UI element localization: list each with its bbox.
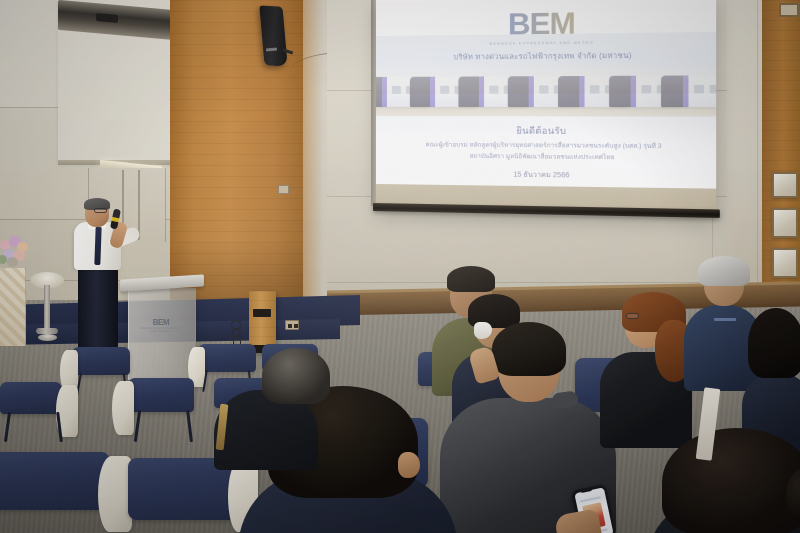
- metro-train: [661, 75, 716, 107]
- wall-outlet: [278, 185, 289, 194]
- flower-pedestal: [0, 268, 26, 346]
- av-cabinet-vent: [253, 309, 271, 317]
- door-mullion: [138, 170, 140, 240]
- wall-seam: [327, 282, 727, 283]
- slide-logo: BEM BANGKOK EXPRESSWAY AND METRO: [376, 7, 716, 47]
- presenter-trousers: [78, 263, 118, 359]
- stool-base: [38, 334, 57, 341]
- slide-date: 15 ธันวาคม 2566: [376, 168, 716, 183]
- stool-post: [44, 285, 50, 331]
- projection-screen: BEM BANGKOK EXPRESSWAY AND METRO บริษัท …: [376, 0, 700, 210]
- lectern-logo-subtitle: BANGKOK EXPRESSWAY AND METRO: [138, 327, 184, 333]
- framed-certificate: [772, 248, 798, 278]
- wood-wall-transition: [303, 0, 327, 300]
- screen-surface: BEM BANGKOK EXPRESSWAY AND METRO บริษัท …: [376, 0, 716, 216]
- bem-logo-text: BEM: [376, 7, 716, 42]
- presentation-slide: BEM BANGKOK EXPRESSWAY AND METRO บริษัท …: [376, 0, 716, 189]
- chrome-stool: [30, 272, 64, 344]
- seminar-photograph: BEM BANGKOK EXPRESSWAY AND METRO บริษัท …: [0, 0, 800, 533]
- framed-certificate: [772, 172, 798, 198]
- slide-welcome-heading: ยินดีต้อนรับ: [376, 123, 716, 139]
- wall-socket-plate: [285, 320, 299, 330]
- lectern-logo-text: BEM: [153, 318, 170, 327]
- lectern-logo: BEM BANGKOK EXPRESSWAY AND METRO: [138, 318, 184, 333]
- framed-picture: [779, 3, 799, 17]
- train-photo-strip: [376, 72, 716, 116]
- lectern: [128, 288, 196, 380]
- eyeglasses-icon: [626, 313, 639, 319]
- slide-organization-line: บริษัท ทางด่วนและรถไฟฟ้ากรุงเทพ จำกัด (ม…: [376, 49, 716, 64]
- slide-body-line-2: สถาบันอิศรา มูลนิธิพัฒนาสื่อมวลชนแห่งประ…: [376, 150, 716, 163]
- flower-arrangement: [0, 230, 32, 272]
- eyeglasses-icon: [94, 208, 107, 213]
- framed-certificate: [772, 208, 798, 238]
